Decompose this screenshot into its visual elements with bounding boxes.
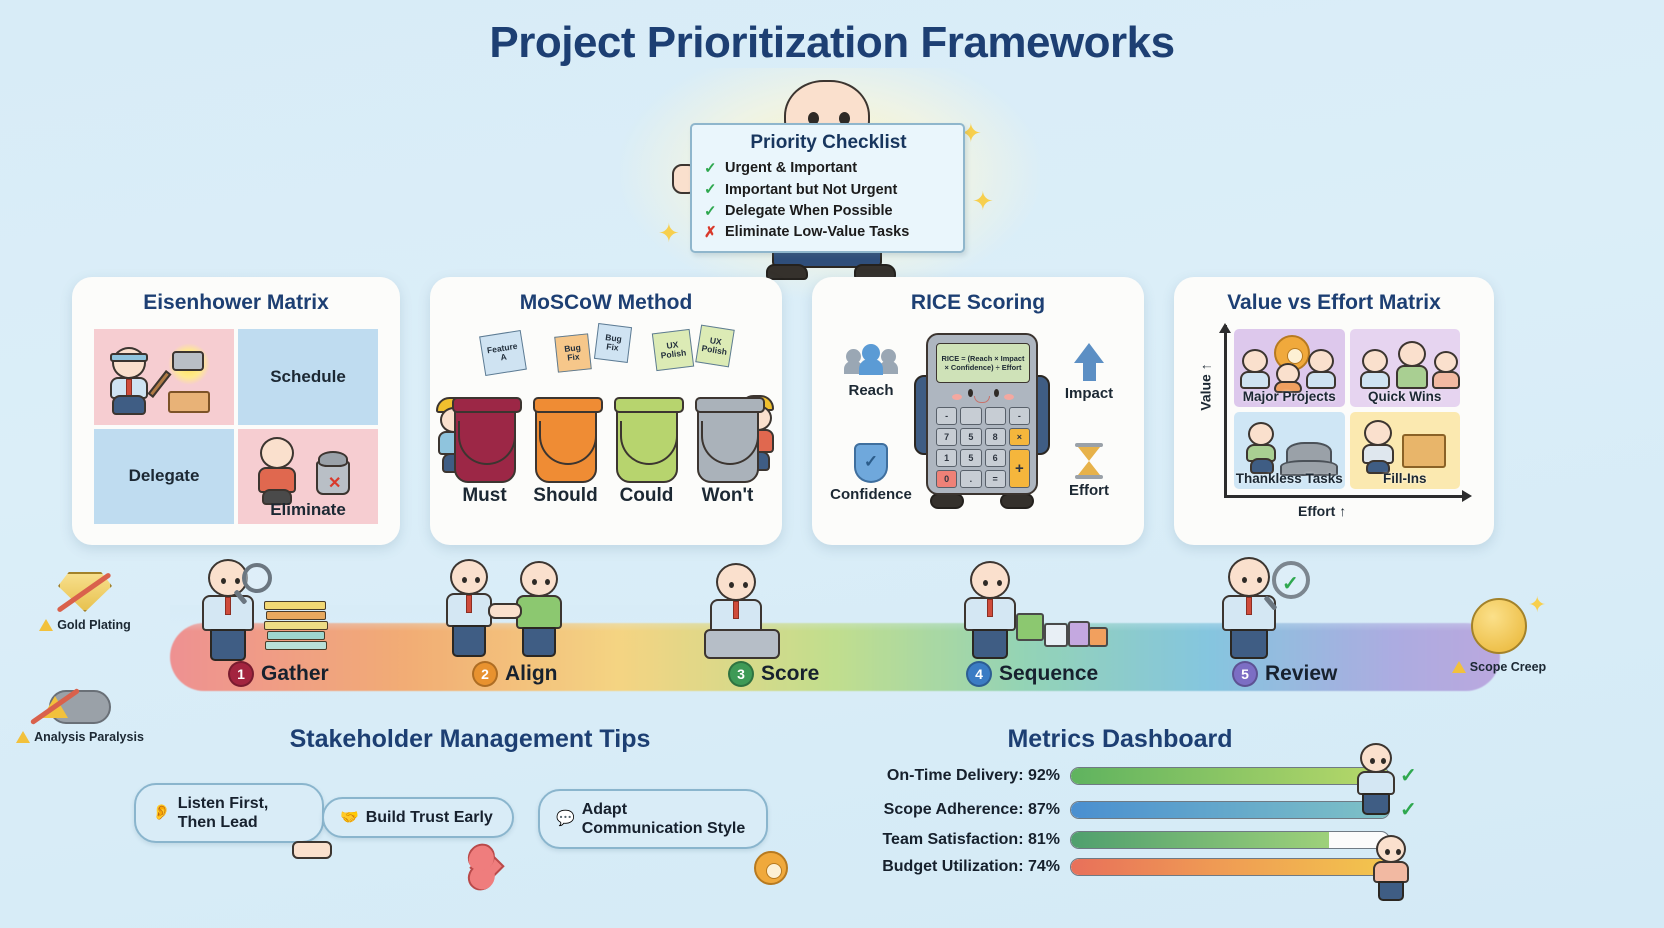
progress-fill <box>1071 859 1389 875</box>
step-badge: 2 <box>472 661 498 687</box>
progress-bar <box>1070 801 1390 819</box>
gold-plating-icon <box>20 572 150 612</box>
moscow-labels: Must Should Could Won't <box>444 485 768 507</box>
hero-character-group: ✦ ✦ ✦ Priority Checklist ✓ Urgent & Impo… <box>660 78 1000 288</box>
card-eisenhower-matrix[interactable]: Eisenhower Matrix <box>72 277 400 545</box>
cell-label: Major Projects <box>1243 389 1336 404</box>
metric-label: On-Time Delivery: 92% <box>860 767 1060 785</box>
cell-label: Quick Wins <box>1368 389 1441 404</box>
step-label: Sequence <box>999 662 1098 686</box>
block-icon <box>1088 627 1108 647</box>
tips-row: 👂 Listen First, Then Lead 🤝 Build Trust … <box>120 775 820 855</box>
rice-factor-impact: Impact <box>1044 343 1134 402</box>
stakeholder-tips-section: Stakeholder Management Tips 👂 Listen Fir… <box>120 725 820 925</box>
calc-key[interactable]: 1 <box>936 449 957 467</box>
tip-label: Adapt Communication Style <box>582 800 750 838</box>
rice-factor-effort: Effort <box>1044 443 1134 499</box>
card-rice-scoring[interactable]: RICE Scoring Reach Confidence <box>812 277 1144 545</box>
calc-key[interactable]: 7 <box>936 428 957 446</box>
bucket-label-wont: Won't <box>689 485 767 507</box>
block-icon <box>1068 621 1090 647</box>
calc-key[interactable]: 8 <box>985 428 1006 446</box>
priority-checklist-card: Priority Checklist ✓ Urgent & Important … <box>690 123 965 253</box>
calc-key-dot[interactable]: . <box>960 470 981 488</box>
handshake-icon <box>488 603 522 619</box>
calculator: RICE = (Reach × Impact × Confidence) ÷ E… <box>926 333 1038 495</box>
check-icon: ✓ <box>1282 571 1299 596</box>
calc-key[interactable] <box>985 407 1006 425</box>
card-title: Value vs Effort Matrix <box>1174 291 1494 315</box>
progress-bar <box>1070 858 1390 876</box>
checklist-item: ✗ Eliminate Low-Value Tasks <box>704 222 953 243</box>
tips-title: Stakeholder Management Tips <box>120 725 820 754</box>
card-title: MoSCoW Method <box>430 291 782 315</box>
calculator-keys: - - 7 5 8 × 1 5 6 + 0 . = <box>936 407 1030 488</box>
step-4-sequence[interactable]: 4 Sequence <box>966 661 1098 687</box>
rice-factor-reach: Reach <box>826 341 916 399</box>
heart-icon <box>469 849 504 884</box>
page-title: Project Prioritization Frameworks <box>0 18 1664 68</box>
ribbon-fade <box>170 605 1500 631</box>
do-illustration <box>94 329 234 425</box>
block-icon <box>1016 613 1044 641</box>
checklist-item-label: Eliminate Low-Value Tasks <box>725 222 909 243</box>
checklist-heading: Priority Checklist <box>704 132 953 154</box>
rice-factor-label: Confidence <box>826 486 916 503</box>
quadrant-label: Schedule <box>270 367 346 387</box>
progress-bar <box>1070 831 1390 849</box>
cell-label: Thankless Tasks <box>1236 471 1343 486</box>
value-effort-matrix: Value ↑ Effort ↑ Major Projects <box>1190 323 1480 537</box>
step-3-score[interactable]: 3 Score <box>728 661 819 687</box>
cell-quick-wins: Quick Wins <box>1350 329 1461 407</box>
progress-bar <box>1070 767 1390 785</box>
moscow-buckets <box>444 353 768 483</box>
step-5-review[interactable]: 5 Review <box>1232 661 1337 687</box>
quadrant-do <box>94 329 234 425</box>
rice-factor-label: Effort <box>1044 482 1134 499</box>
infographic-page: Project Prioritization Frameworks ✦ ✦ ✦ … <box>0 0 1664 928</box>
metric-row: On-Time Delivery: 92% ✓ <box>860 763 1550 788</box>
warning-label-row: Scope Creep <box>1424 660 1574 674</box>
warning-label: Scope Creep <box>1470 660 1546 674</box>
block-icon <box>1044 623 1068 647</box>
rice-factor-label: Impact <box>1044 385 1134 402</box>
quadrant-schedule: Schedule <box>238 329 378 425</box>
calc-key[interactable]: 5 <box>960 449 981 467</box>
sparkle-icon: ✦ <box>972 186 994 217</box>
handshake-icon: 🤝 <box>340 809 359 827</box>
calc-key-plus[interactable]: + <box>1009 449 1030 488</box>
rice-formula: RICE = (Reach × Impact × Confidence) ÷ E… <box>936 343 1030 383</box>
warning-label-row: Gold Plating <box>20 618 150 632</box>
bucket-should <box>535 401 597 483</box>
handshake-icon <box>292 841 332 859</box>
metrics-dashboard-section: Metrics Dashboard On-Time Delivery: 92% … <box>860 725 1550 925</box>
cell-fill-ins: Fill-Ins <box>1350 412 1461 490</box>
step-badge: 4 <box>966 661 992 687</box>
sparkle-icon: ✦ <box>658 218 680 249</box>
x-axis-label: Effort ↑ <box>1298 503 1346 519</box>
cell-major-projects: Major Projects <box>1234 329 1345 407</box>
card-value-vs-effort[interactable]: Value vs Effort Matrix Value ↑ Effort ↑ <box>1174 277 1494 545</box>
arrow-up-icon <box>1044 343 1134 381</box>
check-icon: ✓ <box>704 179 719 200</box>
shield-check-icon <box>854 443 888 483</box>
bucket-wont <box>697 401 759 483</box>
eisenhower-grid: Schedule Delegate ✕ Eliminate <box>94 329 378 524</box>
calc-key[interactable] <box>960 407 981 425</box>
check-icon: ✓ <box>1400 763 1417 788</box>
x-axis <box>1224 495 1464 498</box>
warning-icon <box>1452 661 1466 673</box>
checklist-item-label: Urgent & Important <box>725 158 857 179</box>
check-icon: ✓ <box>704 158 719 179</box>
warning-icon <box>39 619 53 631</box>
metrics-title: Metrics Dashboard <box>860 725 1380 754</box>
quadrant-delegate: Delegate <box>94 429 234 525</box>
gear-icon <box>754 851 788 885</box>
checklist-item: ✓ Delegate When Possible <box>704 201 953 222</box>
check-icon: ✓ <box>1400 797 1417 822</box>
calculator-prop <box>704 629 780 659</box>
metric-row: Budget Utilization: 74% <box>860 858 1550 876</box>
checklist-item: ✓ Important but Not Urgent <box>704 179 953 200</box>
warning-icon <box>16 731 30 743</box>
tip-adapt-communication[interactable]: 💬 Adapt Communication Style <box>538 789 768 849</box>
calc-key[interactable]: 5 <box>960 428 981 446</box>
bucket-label-should: Should <box>527 485 605 507</box>
step-1-gather[interactable]: 1 Gather <box>228 661 329 687</box>
step-label: Align <box>505 662 558 686</box>
cell-label: Fill-Ins <box>1383 471 1427 486</box>
framework-cards-row: Eisenhower Matrix <box>0 277 1664 547</box>
y-axis-label: Value ↑ <box>1198 363 1214 410</box>
bucket-must <box>454 401 516 483</box>
progress-fill <box>1071 832 1329 848</box>
tip-listen-first[interactable]: 👂 Listen First, Then Lead <box>134 783 324 843</box>
metric-label: Scope Adherence: 87% <box>860 801 1060 819</box>
tip-label: Listen First, Then Lead <box>178 794 306 832</box>
ear-icon: 👂 <box>152 804 171 822</box>
hourglass-icon <box>1075 443 1103 479</box>
step-badge: 5 <box>1232 661 1258 687</box>
metric-row: Team Satisfaction: 81% <box>860 831 1550 849</box>
calculator-face <box>936 387 1030 405</box>
bucket-label-must: Must <box>446 485 524 507</box>
calc-key-equals[interactable]: = <box>985 470 1006 488</box>
step-2-align[interactable]: 2 Align <box>472 661 558 687</box>
bucket-could <box>616 401 678 483</box>
calc-key-multiply[interactable]: × <box>1009 428 1030 446</box>
tip-label: Build Trust Early <box>366 808 493 827</box>
card-title: RICE Scoring <box>812 291 1144 315</box>
bucket-label-could: Could <box>608 485 686 507</box>
step-label: Review <box>1265 662 1337 686</box>
quadrant-label: Eliminate <box>238 500 378 520</box>
metric-label: Team Satisfaction: 81% <box>860 831 1060 849</box>
progress-fill <box>1071 802 1389 818</box>
step-badge: 3 <box>728 661 754 687</box>
cell-thankless-tasks: Thankless Tasks <box>1234 412 1345 490</box>
calc-key[interactable]: - <box>1009 407 1030 425</box>
calc-key-zero[interactable]: 0 <box>936 470 957 488</box>
progress-fill <box>1071 768 1389 784</box>
tip-build-trust[interactable]: 🤝 Build Trust Early <box>322 797 514 838</box>
checklist-item: ✓ Urgent & Important <box>704 158 953 179</box>
people-icon <box>844 341 898 375</box>
card-title: Eisenhower Matrix <box>72 291 400 315</box>
warning-label: Gold Plating <box>57 618 131 632</box>
card-moscow-method[interactable]: MoSCoW Method Feature A Bug Fix Bug Fix … <box>430 277 782 545</box>
rice-factor-label: Reach <box>848 382 893 399</box>
calc-key[interactable]: 6 <box>985 449 1006 467</box>
quadrant-label: Delegate <box>129 466 200 486</box>
rice-factor-confidence: Confidence <box>826 443 916 503</box>
warning-scope-creep: ✦ Scope Creep <box>1424 598 1574 674</box>
step-badge: 1 <box>228 661 254 687</box>
checklist-item-label: Important but Not Urgent <box>725 180 897 201</box>
matrix-grid: Major Projects Quick Wins <box>1234 329 1460 489</box>
quadrant-eliminate: ✕ Eliminate <box>238 429 378 525</box>
step-label: Score <box>761 662 819 686</box>
warning-gold-plating: Gold Plating <box>20 572 150 632</box>
scope-creep-icon: ✦ <box>1424 598 1574 654</box>
speech-bubble-icon: 💬 <box>556 810 575 828</box>
cross-icon: ✗ <box>704 222 719 243</box>
calculator-shoe <box>1000 493 1034 509</box>
workflow-timeline: ✓ 1 Gather 2 Align 3 Score 4 Sequence 5 … <box>0 545 1664 720</box>
folder-icon <box>1402 434 1446 468</box>
calc-key[interactable]: - <box>936 407 957 425</box>
checklist-item-label: Delegate When Possible <box>725 201 893 222</box>
metric-label: Budget Utilization: 74% <box>860 858 1060 876</box>
rice-diagram: Reach Confidence Impact Effort <box>822 325 1134 535</box>
check-icon: ✓ <box>704 201 719 222</box>
calculator-shoe <box>930 493 964 509</box>
metric-row: Scope Adherence: 87% ✓ <box>860 797 1550 822</box>
step-label: Gather <box>261 662 329 686</box>
y-axis <box>1224 325 1227 497</box>
analysis-paralysis-icon <box>0 690 160 724</box>
